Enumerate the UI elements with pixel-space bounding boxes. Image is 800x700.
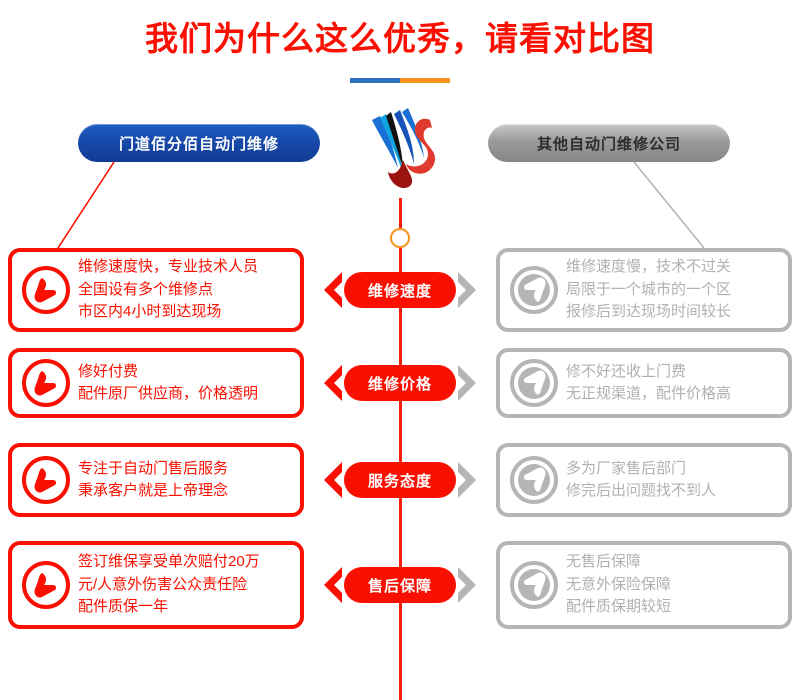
advantage-card: 签订维保享受单次赔付20万 元/人意外伤害公众责任险 配件质保一年	[8, 541, 304, 629]
advantage-text: 修好付费 配件原厂供应商，价格透明	[72, 361, 264, 406]
chevron-right-icon	[456, 363, 482, 403]
category-label-group: 服务态度	[312, 458, 488, 502]
drawback-text: 无售后保障 无意外保险保障 配件质保期较短	[560, 551, 677, 619]
thumbs-up-icon	[20, 357, 72, 409]
title-rule-blue-segment	[350, 78, 400, 83]
spine-node-circle	[390, 228, 410, 248]
chevron-left-icon	[318, 363, 344, 403]
thumbs-up-icon	[20, 264, 72, 316]
thumbs-down-icon	[508, 559, 560, 611]
title-rule	[350, 78, 450, 83]
advantage-text: 维修速度快，专业技术人员 全国设有多个维修点 市区内4小时到达现场	[72, 256, 264, 324]
drawback-text: 修不好还收上门费 无正规渠道，配件价格高	[560, 361, 737, 406]
title-rule-orange-segment	[400, 78, 450, 83]
drawback-card: 多为厂家售后部门 修完后出问题找不到人	[496, 443, 792, 517]
drawback-card: 维修速度慢，技术不过关 局限于一个城市的一个区 报修后到达现场时间较长	[496, 248, 792, 332]
thumbs-down-icon	[508, 454, 560, 506]
badge-our-company[interactable]: 门道佰分佰自动门维修	[78, 124, 320, 162]
advantage-card: 专注于自动门售后服务 秉承客户就是上帝理念	[8, 443, 304, 517]
category-label-group: 售后保障	[312, 563, 488, 607]
drawback-text: 维修速度慢，技术不过关 局限于一个城市的一个区 报修后到达现场时间较长	[560, 256, 737, 324]
chevron-right-icon	[456, 565, 482, 605]
connector-line-left	[52, 160, 122, 252]
comparison-row: 维修速度快，专业技术人员 全国设有多个维修点 市区内4小时到达现场 维修速度 维…	[0, 248, 800, 332]
category-label[interactable]: 维修速度	[344, 272, 456, 308]
comparison-row: 修好付费 配件原厂供应商，价格透明 维修价格 修不好还收上门费 无正规渠道，配件…	[0, 348, 800, 418]
category-label-group: 维修价格	[312, 361, 488, 405]
chevron-right-icon	[456, 460, 482, 500]
category-label-group: 维修速度	[312, 268, 488, 312]
chevron-right-icon	[456, 270, 482, 310]
comparison-row: 专注于自动门售后服务 秉承客户就是上帝理念 服务态度 多为厂家售后部门 修完后出…	[0, 443, 800, 517]
thumbs-up-icon	[20, 454, 72, 506]
advantage-text: 签订维保享受单次赔付20万 元/人意外伤害公众责任险 配件质保一年	[72, 551, 266, 619]
advantage-card: 修好付费 配件原厂供应商，价格透明	[8, 348, 304, 418]
badge-other-companies[interactable]: 其他自动门维修公司	[488, 124, 730, 162]
category-label[interactable]: 售后保障	[344, 567, 456, 603]
advantage-text: 专注于自动门售后服务 秉承客户就是上帝理念	[72, 458, 234, 503]
chevron-left-icon	[318, 270, 344, 310]
chevron-left-icon	[318, 565, 344, 605]
drawback-card: 无售后保障 无意外保险保障 配件质保期较短	[496, 541, 792, 629]
thumbs-down-icon	[508, 264, 560, 316]
chevron-left-icon	[318, 460, 344, 500]
vs-logo	[358, 98, 444, 194]
thumbs-down-icon	[508, 357, 560, 409]
thumbs-up-icon	[20, 559, 72, 611]
comparison-row: 签订维保享受单次赔付20万 元/人意外伤害公众责任险 配件质保一年 售后保障 无…	[0, 541, 800, 629]
category-label[interactable]: 维修价格	[344, 365, 456, 401]
drawback-text: 多为厂家售后部门 修完后出问题找不到人	[560, 458, 722, 503]
drawback-card: 修不好还收上门费 无正规渠道，配件价格高	[496, 348, 792, 418]
category-label[interactable]: 服务态度	[344, 462, 456, 498]
advantage-card: 维修速度快，专业技术人员 全国设有多个维修点 市区内4小时到达现场	[8, 248, 304, 332]
page-title: 我们为什么这么优秀，请看对比图	[0, 12, 800, 60]
connector-line-right	[628, 160, 720, 252]
